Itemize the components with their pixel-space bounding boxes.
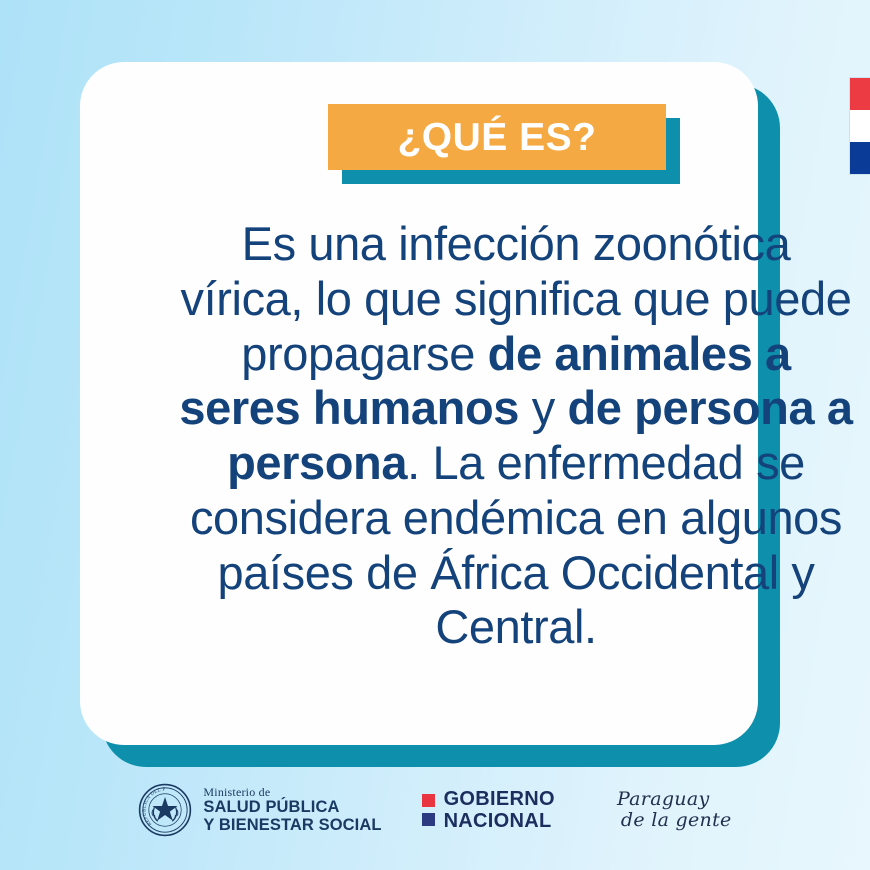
ministry-wordmark: Ministerio de SALUD PÚBLICA Y BIENESTAR … xyxy=(203,786,381,835)
government-wordmark: GOBIERNO NACIONAL xyxy=(444,788,555,832)
footer-logo-bar: REPÚBLICA DEL PARAGUAY Ministerio de SAL… xyxy=(0,778,870,842)
slogan-line-2: de la gente xyxy=(595,810,732,831)
ministry-line-2: Y BIENESTAR SOCIAL xyxy=(203,817,381,834)
government-logo: GOBIERNO NACIONAL xyxy=(422,788,555,832)
government-line-2: NACIONAL xyxy=(444,810,555,832)
flag-band-white xyxy=(850,110,870,142)
swatch-red xyxy=(422,794,435,807)
ministry-logo: REPÚBLICA DEL PARAGUAY Ministerio de SAL… xyxy=(138,783,381,837)
banner-plate: ¿QUÉ ES? xyxy=(328,104,666,170)
heading-banner: ¿QUÉ ES? xyxy=(328,104,680,184)
body-paragraph: Es una infección zoonótica vírica, lo qu… xyxy=(176,217,856,655)
body-text-regular: . xyxy=(407,436,420,489)
flag-band-red xyxy=(850,78,870,110)
page-title: ¿QUÉ ES? xyxy=(397,118,596,157)
ministry-line-1: SALUD PÚBLICA xyxy=(203,799,381,816)
paraguay-flag-icon xyxy=(850,78,870,174)
infographic-page: { "palette": { "background_left": "#AEE2… xyxy=(0,0,870,870)
slogan-line-1: Paraguay xyxy=(595,789,732,810)
government-swatches xyxy=(422,794,435,826)
swatch-blue xyxy=(422,813,435,826)
body-text-regular: y xyxy=(519,381,567,434)
ministry-pre-label: Ministerio de xyxy=(203,786,381,799)
republic-seal-icon: REPÚBLICA DEL PARAGUAY xyxy=(138,783,192,837)
content-card: ¿QUÉ ES? Es una infección zoonótica víri… xyxy=(80,62,780,767)
slogan-logo: Paraguay de la gente xyxy=(595,789,732,832)
government-line-1: GOBIERNO xyxy=(444,788,555,810)
flag-band-blue xyxy=(850,142,870,174)
